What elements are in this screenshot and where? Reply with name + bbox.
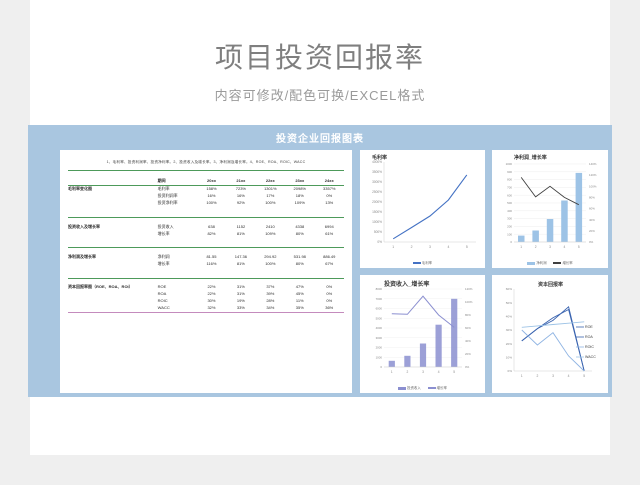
period-header: 22xx xyxy=(256,177,285,185)
table-cell: 1152 xyxy=(226,223,255,230)
panel-banner-title: 投资企业回报图表 xyxy=(28,130,612,145)
svg-text:40%: 40% xyxy=(506,314,512,318)
svg-text:100: 100 xyxy=(507,232,512,236)
table-cell: 37% xyxy=(256,284,285,291)
block-separator xyxy=(68,237,344,248)
page-subtitle: 内容可修改/配色可换/EXCEL格式 xyxy=(30,85,610,104)
svg-text:0%: 0% xyxy=(465,365,470,369)
svg-text:500: 500 xyxy=(507,201,512,205)
chart-title-invest-income: 投资收入_增长率 xyxy=(384,279,429,288)
table-cell: 31% xyxy=(226,291,255,298)
table-cell: 11% xyxy=(285,298,314,305)
svg-text:100%: 100% xyxy=(589,184,597,188)
block-name: 毛利率变化图 xyxy=(68,185,158,192)
svg-text:900: 900 xyxy=(507,170,512,174)
svg-text:1: 1 xyxy=(521,374,523,378)
table-cell: 147.36 xyxy=(226,254,255,261)
table-cell: 6994 xyxy=(315,223,345,230)
svg-text:8000: 8000 xyxy=(376,287,383,291)
svg-text:0%: 0% xyxy=(508,369,513,373)
svg-text:600: 600 xyxy=(507,193,512,197)
page-title: 项目投资回报率 xyxy=(30,36,610,76)
block-name: 净利润及增长率 xyxy=(68,254,158,261)
table-cell: 81% xyxy=(226,261,255,268)
chart-card-gross-margin: 毛利率 0%500%1000%1500%2000%2500%3000%3500%… xyxy=(360,150,485,268)
table-cell: 19% xyxy=(226,298,255,305)
metric-name: ROE xyxy=(158,284,197,291)
block-separator xyxy=(68,207,344,218)
table-cell: 294.92 xyxy=(256,254,285,261)
svg-text:20%: 20% xyxy=(589,229,595,233)
svg-text:40%: 40% xyxy=(589,218,595,222)
table-row: 增长率82%81%109%80%61% xyxy=(68,230,344,237)
svg-text:1000: 1000 xyxy=(506,162,513,166)
svg-text:20%: 20% xyxy=(465,352,471,356)
table-cell: 28% xyxy=(256,298,285,305)
svg-text:60%: 60% xyxy=(589,207,595,211)
svg-text:0: 0 xyxy=(510,240,512,244)
table-cell: 3357% xyxy=(315,185,345,192)
chart-title-capital-return: 资本回报率 xyxy=(538,281,563,288)
table-cell: 0% xyxy=(315,193,345,200)
svg-text:30%: 30% xyxy=(506,328,512,332)
table-row: ROA22%31%39%45%0% xyxy=(68,291,344,298)
legend-label: 净利润 xyxy=(536,261,546,265)
svg-text:WACC: WACC xyxy=(585,355,596,359)
svg-text:1: 1 xyxy=(392,245,394,249)
legend-label: 毛利率 xyxy=(422,261,432,265)
table-note: 1、毛利率、投资利润率、投资净利率。2、投资收入及增长率。3、净利润及增长率。4… xyxy=(68,156,344,169)
svg-text:0: 0 xyxy=(380,365,382,369)
svg-text:4: 4 xyxy=(568,374,570,378)
table-row: ROIC30%19%28%11%0% xyxy=(68,298,344,305)
svg-text:20%: 20% xyxy=(506,342,512,346)
table-row: WACC32%33%34%35%36% xyxy=(68,305,344,312)
table-cell: 81% xyxy=(226,230,255,237)
chart-svg-invest-income: 010002000300040005000600070008000 0%20%4… xyxy=(360,275,485,393)
table-cell: 35% xyxy=(285,305,314,312)
svg-text:50%: 50% xyxy=(506,301,512,305)
table-cell: 100% xyxy=(256,200,285,207)
metric-name: 增长率 xyxy=(158,261,197,268)
chart-panel: 投资企业回报图表 1、毛利率、投资利润率、投资净利率。2、投资收入及增长率。3、… xyxy=(28,125,612,397)
chart-svg-net-profit: 01002003004005006007008009001000 0%20%40… xyxy=(492,150,608,268)
block-name: 资本回报率图（ROE、ROA、ROI） xyxy=(68,284,158,291)
poster-page: 项目投资回报率 内容可修改/配色可换/EXCEL格式 投资企业回报图表 1、毛利… xyxy=(30,0,610,455)
svg-text:700: 700 xyxy=(507,186,512,190)
svg-text:2000%: 2000% xyxy=(372,200,382,204)
svg-text:1000%: 1000% xyxy=(372,220,382,224)
table-cell: 67% xyxy=(315,261,345,268)
table-row: 增长率116%81%100%80%67% xyxy=(68,261,344,268)
svg-text:120%: 120% xyxy=(465,287,473,291)
table-cell: 80% xyxy=(285,261,314,268)
table-cell: 61% xyxy=(315,230,345,237)
block-name: 投资收入及增长率 xyxy=(68,223,158,230)
svg-text:2: 2 xyxy=(535,245,537,249)
block-name xyxy=(68,298,158,305)
svg-text:80%: 80% xyxy=(465,313,471,317)
chart-legend-invest-income: 投资收入 增长率 xyxy=(360,385,485,390)
svg-text:3500%: 3500% xyxy=(372,170,382,174)
table-cell: 30% xyxy=(197,298,226,305)
metric-name: 毛利率 xyxy=(158,185,197,192)
table-cell: 16% xyxy=(226,193,255,200)
svg-text:1000: 1000 xyxy=(376,355,383,359)
period-label: 期间 xyxy=(158,177,197,185)
metric-name: 投资利润率 xyxy=(158,193,197,200)
svg-text:3000: 3000 xyxy=(376,336,383,340)
svg-text:500%: 500% xyxy=(374,230,382,234)
chart-legend-net-profit: 净利润 增长率 xyxy=(492,260,608,265)
svg-text:0%: 0% xyxy=(377,240,382,244)
svg-text:1: 1 xyxy=(520,245,522,249)
svg-text:800: 800 xyxy=(507,178,512,182)
table-cell: 109% xyxy=(256,230,285,237)
table-cell: 0% xyxy=(315,298,345,305)
svg-text:4: 4 xyxy=(564,245,566,249)
chart-title-gross-margin: 毛利率 xyxy=(372,154,387,161)
table-cell: 82% xyxy=(197,230,226,237)
table-cell: 32% xyxy=(197,305,226,312)
svg-text:ROIC: ROIC xyxy=(585,345,594,349)
svg-text:3: 3 xyxy=(549,245,551,249)
svg-text:2000: 2000 xyxy=(376,346,383,350)
chart-card-capital-return: 资本回报率 0%10%20%30%40%50%60% 12345 ROEROAR… xyxy=(492,275,608,393)
table-cell: 13% xyxy=(315,200,345,207)
svg-text:2: 2 xyxy=(407,370,409,374)
svg-text:300: 300 xyxy=(507,217,512,221)
svg-text:60%: 60% xyxy=(506,287,512,291)
table-cell: 34% xyxy=(256,305,285,312)
block-name xyxy=(68,200,158,207)
period-header: 21xx xyxy=(226,177,255,185)
svg-text:5: 5 xyxy=(578,245,580,249)
table-cell: 22% xyxy=(197,291,226,298)
svg-text:1500%: 1500% xyxy=(372,210,382,214)
table-header-row: 期间20xx21xx22xx23xx24xx xyxy=(68,177,344,185)
chart-card-net-profit: 净利润_增长率 01002003004005006007008009001000… xyxy=(492,150,608,268)
table-cell: 17% xyxy=(256,193,285,200)
block-separator xyxy=(68,268,344,279)
table-row: 投资收入及增长率投资收入6381152241043386994 xyxy=(68,223,344,230)
divider-pink-bottom xyxy=(68,312,344,313)
table-cell: 158% xyxy=(197,185,226,192)
chart-svg-capital-return: 0%10%20%30%40%50%60% 12345 ROEROAROICWAC… xyxy=(492,275,608,393)
svg-text:10%: 10% xyxy=(506,355,512,359)
block-name xyxy=(68,305,158,312)
svg-text:4: 4 xyxy=(447,245,449,249)
table-row: 净利润及增长率净利润81.55147.36294.92531.98886.49 xyxy=(68,254,344,261)
table-cell: 886.49 xyxy=(315,254,345,261)
svg-text:100%: 100% xyxy=(465,300,473,304)
legend-label: 增长率 xyxy=(562,261,572,265)
metrics-table: 期间20xx21xx22xx23xx24xx毛利率变化图毛利率158%723%1… xyxy=(68,177,344,311)
chart-card-invest-income: 投资收入_增长率 0100020003000400050006000700080… xyxy=(360,275,485,393)
table-cell: 0% xyxy=(315,284,345,291)
svg-text:0%: 0% xyxy=(589,240,594,244)
table-cell: 2410 xyxy=(256,223,285,230)
table-cell: 80% xyxy=(285,230,314,237)
svg-text:2: 2 xyxy=(536,374,538,378)
table-cell: 723% xyxy=(226,185,255,192)
table-row: 投资利润率16%16%17%18%0% xyxy=(68,193,344,200)
svg-text:120%: 120% xyxy=(589,173,597,177)
svg-text:5: 5 xyxy=(466,245,468,249)
metric-name: ROA xyxy=(158,291,197,298)
table-cell: 100% xyxy=(256,261,285,268)
metric-name: WACC xyxy=(158,305,197,312)
svg-text:40%: 40% xyxy=(465,339,471,343)
block-name xyxy=(68,193,158,200)
metric-name: 增长率 xyxy=(158,230,197,237)
table-cell: 39% xyxy=(256,291,285,298)
chart-svg-gross-margin: 0%500%1000%1500%2000%2500%3000%3500%4000… xyxy=(360,150,485,268)
svg-text:3: 3 xyxy=(429,245,431,249)
table-cell: 638 xyxy=(197,223,226,230)
metric-name: 净利润 xyxy=(158,254,197,261)
table-row: 资本回报率图（ROE、ROA、ROI）ROE22%31%37%47%0% xyxy=(68,284,344,291)
metric-name: 投资收入 xyxy=(158,223,197,230)
svg-text:5: 5 xyxy=(453,370,455,374)
svg-text:6000: 6000 xyxy=(376,307,383,311)
table-cell: 100% xyxy=(197,200,226,207)
table-cell: 33% xyxy=(226,305,255,312)
table-row: 毛利率变化图毛利率158%723%1301%2098%3357% xyxy=(68,185,344,192)
svg-text:80%: 80% xyxy=(589,196,595,200)
svg-text:3: 3 xyxy=(422,370,424,374)
chart-legend-gross-margin: 毛利率 xyxy=(360,260,485,265)
legend-label: 投资收入 xyxy=(407,386,421,390)
table-cell: 4338 xyxy=(285,223,314,230)
metric-name: ROIC xyxy=(158,298,197,305)
table-cell: 36% xyxy=(315,305,345,312)
svg-text:ROE: ROE xyxy=(585,325,593,329)
table-cell: 116% xyxy=(197,261,226,268)
legend-label: 增长率 xyxy=(437,386,447,390)
svg-text:5: 5 xyxy=(583,374,585,378)
table-cell: 81.55 xyxy=(197,254,226,261)
svg-text:4000: 4000 xyxy=(376,326,383,330)
svg-text:60%: 60% xyxy=(465,326,471,330)
period-header: 24xx xyxy=(315,177,345,185)
chart-title-net-profit: 净利润_增长率 xyxy=(514,154,547,161)
table-cell: 45% xyxy=(285,291,314,298)
block-name xyxy=(68,291,158,298)
block-name xyxy=(68,230,158,237)
table-cell: 1301% xyxy=(256,185,285,192)
table-cell: 92% xyxy=(226,200,255,207)
svg-text:3: 3 xyxy=(552,374,554,378)
svg-text:3000%: 3000% xyxy=(372,180,382,184)
metric-name: 投资净利率 xyxy=(158,200,197,207)
period-header: 23xx xyxy=(285,177,314,185)
svg-text:7000: 7000 xyxy=(376,297,383,301)
data-table-card: 1、毛利率、投资利润率、投资净利率。2、投资收入及增长率。3、净利润及增长率。4… xyxy=(60,150,352,393)
svg-text:ROA: ROA xyxy=(585,335,593,339)
table-cell: 531.98 xyxy=(285,254,314,261)
table-cell: 22% xyxy=(197,284,226,291)
svg-text:200: 200 xyxy=(507,225,512,229)
table-cell: 2098% xyxy=(285,185,314,192)
svg-text:140%: 140% xyxy=(589,162,597,166)
svg-text:1: 1 xyxy=(391,370,393,374)
svg-text:4: 4 xyxy=(438,370,440,374)
table-row: 投资净利率100%92%100%109%13% xyxy=(68,200,344,207)
table-cell: 0% xyxy=(315,291,345,298)
table-cell: 31% xyxy=(226,284,255,291)
period-header: 20xx xyxy=(197,177,226,185)
svg-text:2: 2 xyxy=(411,245,413,249)
table-cell: 18% xyxy=(285,193,314,200)
block-name xyxy=(68,261,158,268)
table-cell: 16% xyxy=(197,193,226,200)
svg-text:2500%: 2500% xyxy=(372,190,382,194)
table-cell: 47% xyxy=(285,284,314,291)
svg-text:400: 400 xyxy=(507,209,512,213)
table-cell: 109% xyxy=(285,200,314,207)
svg-text:5000: 5000 xyxy=(376,316,383,320)
